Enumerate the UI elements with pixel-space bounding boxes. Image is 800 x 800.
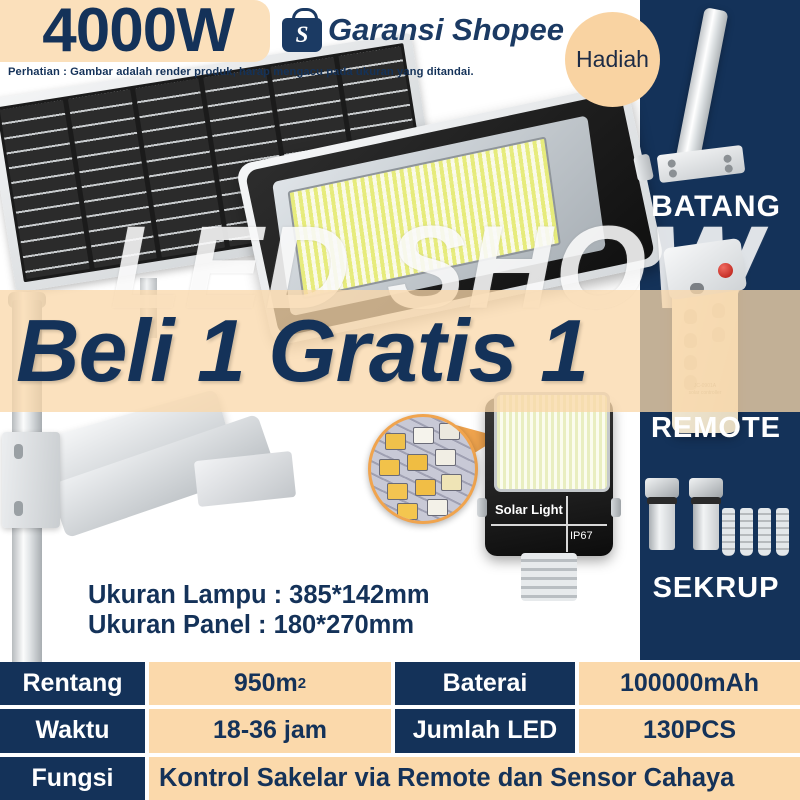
spec-key-fungsi: Fungsi (0, 757, 145, 800)
product-marketing-poster: LED SHOW Solar Light IP67 BATANG (0, 0, 800, 800)
wattage-label: 4000W (18, 0, 258, 66)
screws-icon (648, 478, 676, 550)
dimension-block: Ukuran Lampu : 385*142mm Ukuran Panel : … (88, 580, 430, 640)
accessory-label-sekrup: SEKRUP (636, 572, 796, 605)
bracket-plate-secondary (194, 451, 296, 507)
spec-value-jumlah-led: 130PCS (579, 709, 800, 752)
lamp-ear-left (477, 498, 487, 517)
accessory-label-remote: REMOTE (636, 412, 796, 445)
shopee-guarantee: S Garansi Shopee (282, 8, 564, 52)
bracket-plate (2, 432, 60, 528)
accessory-label-batang: BATANG (636, 190, 796, 224)
table-row: Waktu 18-36 jam Jumlah LED 130PCS (0, 709, 800, 752)
specifications-table: Rentang 950m2 Baterai 100000mAh Waktu 18… (0, 662, 800, 800)
wall-anchor-icon-2 (740, 508, 753, 556)
promo-headline: Beli 1 Gratis 1 (0, 290, 800, 412)
shopee-guarantee-label: Garansi Shopee (328, 12, 564, 48)
shopee-logo-letter: S (282, 18, 322, 52)
shopee-bag-icon: S (282, 8, 322, 52)
spec-key-baterai: Baterai (395, 662, 575, 705)
disclaimer-text: Perhatian : Gambar adalah render produk,… (8, 66, 628, 78)
lamp-dimension-text: Ukuran Lampu : 385*142mm (88, 580, 430, 610)
led-closeup-magnifier (368, 414, 478, 524)
spec-value-fungsi: Kontrol Sakelar via Remote dan Sensor Ca… (149, 757, 800, 800)
table-row: Rentang 950m2 Baterai 100000mAh (0, 662, 800, 705)
gift-badge-label: Hadiah (565, 12, 660, 107)
spec-value-waktu: 18-36 jam (149, 709, 391, 752)
spec-value-rentang: 950m2 (149, 662, 391, 705)
wall-anchor-icon-3 (758, 508, 771, 556)
spec-value-baterai: 100000mAh (579, 662, 800, 705)
table-row: Fungsi Kontrol Sakelar via Remote dan Se… (0, 757, 800, 800)
lamp-neck (521, 553, 577, 601)
ip-rating-label: IP67 (570, 530, 593, 542)
spec-value-rentang-number: 950m (234, 669, 298, 698)
wall-anchor-icon-1 (722, 508, 735, 556)
main-lamp-product: Solar Light IP67 (485, 398, 613, 598)
panel-dimension-text: Ukuran Panel : 180*270mm (88, 610, 430, 640)
screws-icon-2 (692, 478, 720, 550)
spec-key-waktu: Waktu (0, 709, 145, 752)
spec-key-jumlah-led: Jumlah LED (395, 709, 575, 752)
spec-key-rentang: Rentang (0, 662, 145, 705)
spec-value-rentang-unit: 2 (298, 675, 306, 692)
lamp-ear-right (611, 498, 621, 517)
wall-anchor-icon-4 (776, 508, 789, 556)
lamp-brand-label: Solar Light (495, 502, 563, 517)
